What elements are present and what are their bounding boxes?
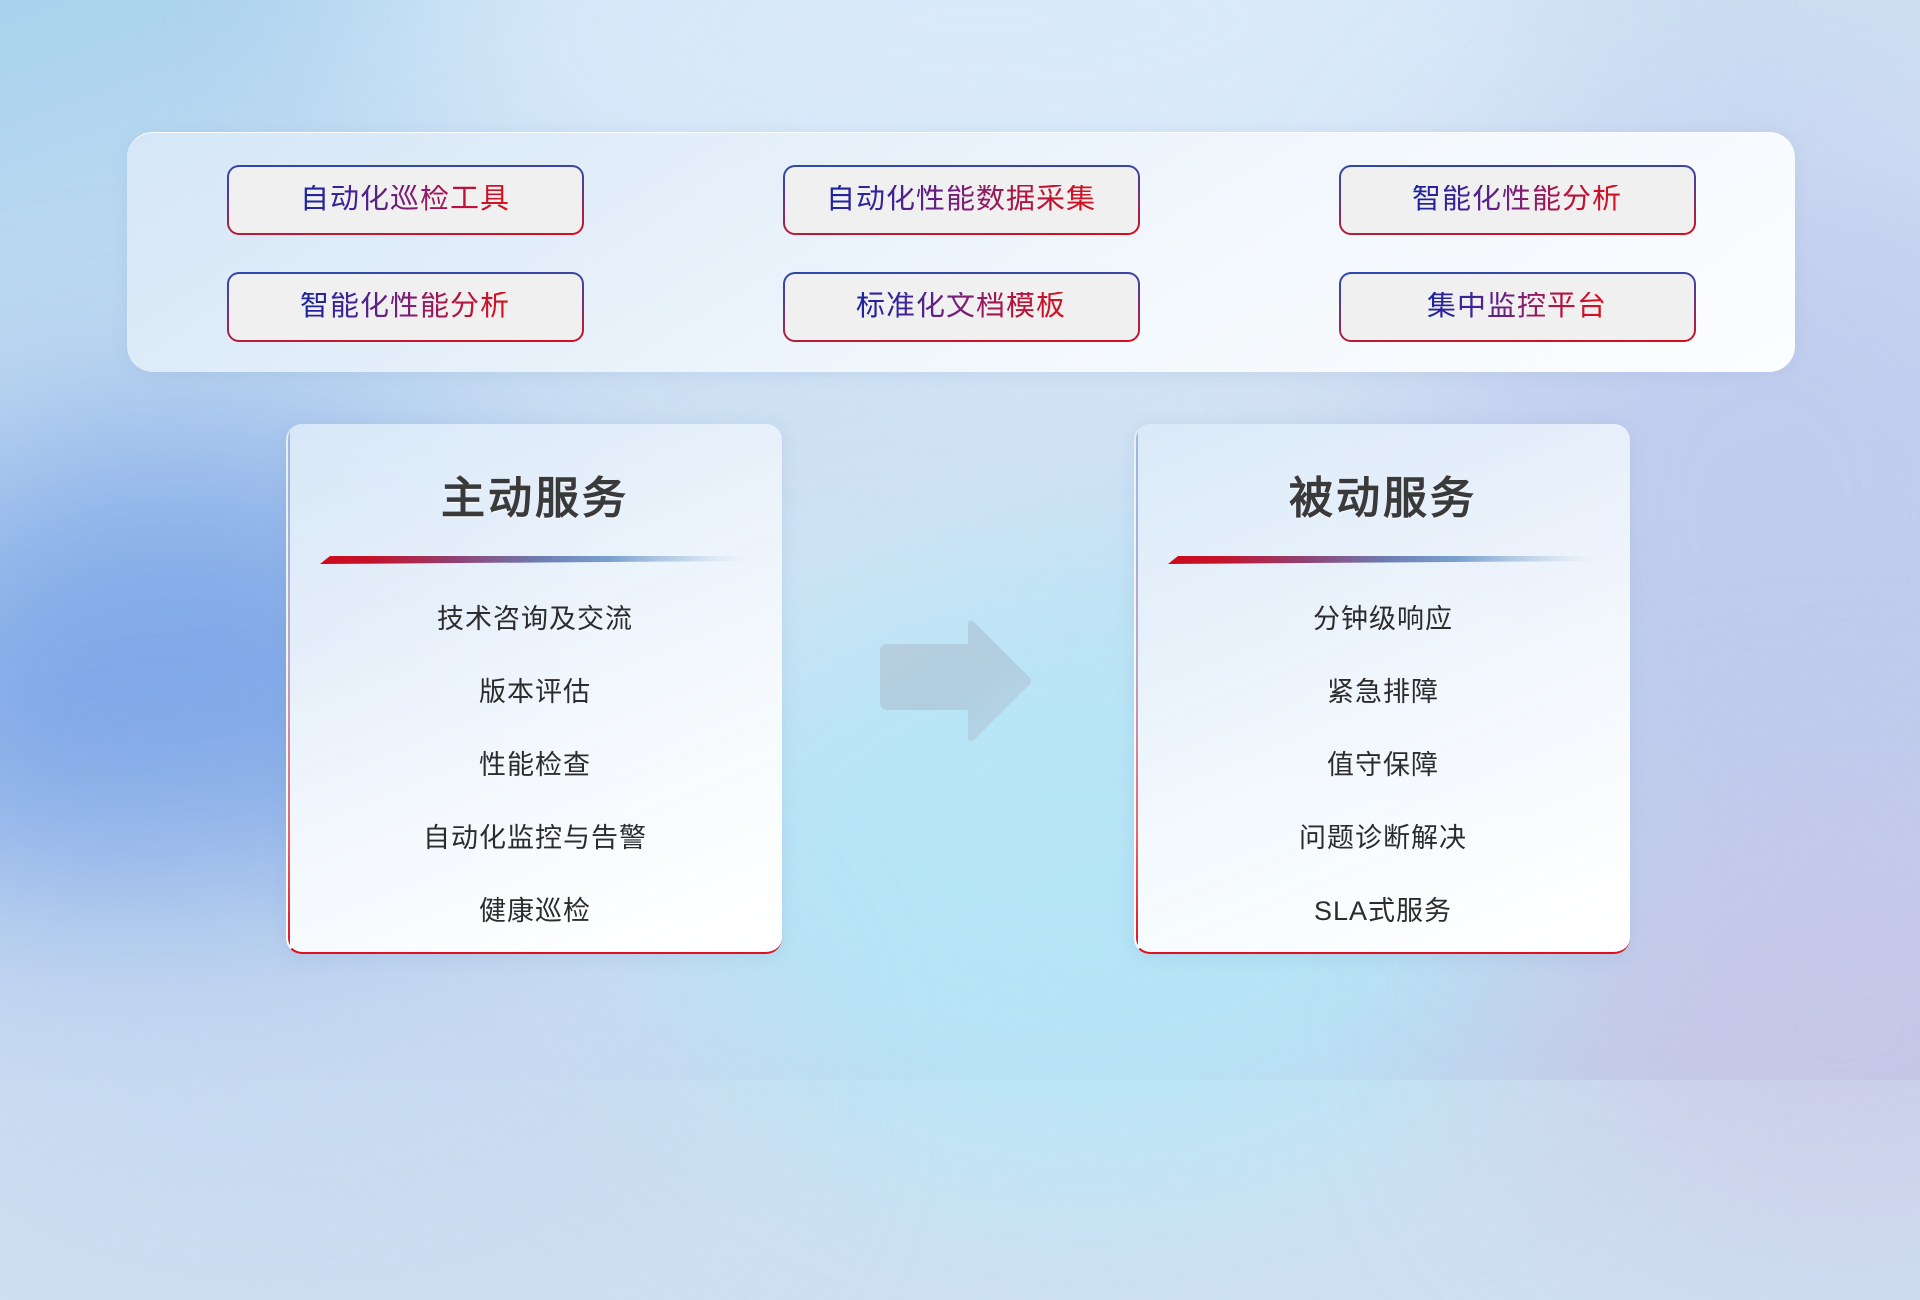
capability-pill-6[interactable]: 集中监控平台 [1339,272,1696,342]
service-item: 紧急排障 [1136,679,1630,706]
card-title: 被动服务 [1136,462,1630,526]
capability-pill-2[interactable]: 自动化性能数据采集 [783,165,1140,235]
service-item: 值守保障 [1136,752,1630,779]
service-item: 版本评估 [288,679,782,706]
service-item: 问题诊断解决 [1136,825,1630,852]
capability-pill-label: 自动化巡检工具 [300,185,510,214]
capability-pill-label: 智能化性能分析 [1412,185,1622,214]
card-title: 主动服务 [288,462,782,526]
capability-pill-label: 标准化文档模板 [856,292,1066,321]
card-accent-edge [1136,424,1138,952]
capability-pill-4[interactable]: 智能化性能分析 [227,272,584,342]
capability-pill-5[interactable]: 标准化文档模板 [783,272,1140,342]
service-item: 健康巡检 [288,898,782,925]
capability-pill-3[interactable]: 智能化性能分析 [1339,165,1696,235]
service-item-list: 技术咨询及交流 版本评估 性能检查 自动化监控与告警 健康巡检 [288,606,782,925]
card-accent-edge [288,424,290,952]
capability-pill-label: 智能化性能分析 [300,292,510,321]
capability-pill-label: 集中监控平台 [1427,292,1607,321]
service-item: 自动化监控与告警 [288,825,782,852]
service-card-proactive: 主动服务 技术咨询及交流 版本评估 性能检查 自动化监控与告警 健康巡检 [286,424,782,954]
service-item: 分钟级响应 [1136,606,1630,633]
capability-panel: 自动化巡检工具 自动化性能数据采集 智能化性能分析 智能化性能分析 标准化文档模… [127,132,1795,372]
service-card-reactive: 被动服务 分钟级响应 紧急排障 值守保障 问题诊断解决 SLA式服务 [1134,424,1630,954]
arrow-right-icon [872,616,1036,744]
service-item: SLA式服务 [1136,898,1630,925]
capability-pill-label: 自动化性能数据采集 [826,185,1096,214]
service-item: 性能检查 [288,752,782,779]
service-item-list: 分钟级响应 紧急排障 值守保障 问题诊断解决 SLA式服务 [1136,606,1630,925]
capability-pill-1[interactable]: 自动化巡检工具 [227,165,584,235]
card-divider [320,554,750,566]
card-divider [1168,554,1598,566]
service-item: 技术咨询及交流 [288,606,782,633]
